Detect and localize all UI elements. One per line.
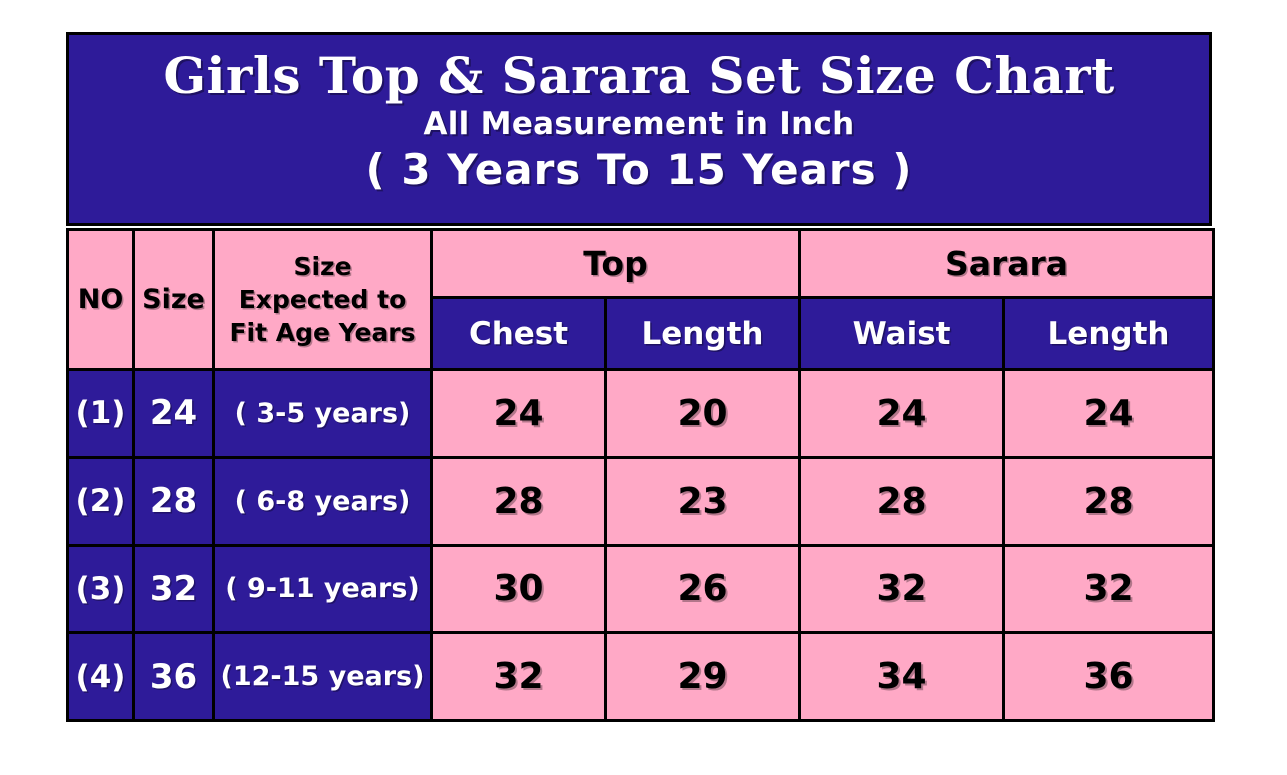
cell-age: ( 3-5 years): [214, 370, 432, 458]
table-body: (1) 24 ( 3-5 years) 24 20 24 24 (2) 28 (…: [68, 370, 1214, 721]
header-sarara-length: Length: [1004, 298, 1214, 370]
header-top-chest: Chest: [432, 298, 606, 370]
cell-age: (12-15 years): [214, 633, 432, 721]
header-size: Size: [134, 230, 214, 370]
cell-top-chest: 30: [432, 545, 606, 633]
cell-no: (1): [68, 370, 134, 458]
header-age-line-3: Fit Age Years: [215, 316, 430, 349]
table-head: NO Size Size Expected to Fit Age Years T…: [68, 230, 1214, 370]
cell-top-length: 26: [606, 545, 800, 633]
header-no: NO: [68, 230, 134, 370]
cell-sarara-length: 32: [1004, 545, 1214, 633]
header-sarara-waist: Waist: [800, 298, 1004, 370]
table-row: (1) 24 ( 3-5 years) 24 20 24 24: [68, 370, 1214, 458]
cell-age: ( 6-8 years): [214, 457, 432, 545]
cell-no: (3): [68, 545, 134, 633]
cell-age: ( 9-11 years): [214, 545, 432, 633]
cell-top-length: 20: [606, 370, 800, 458]
cell-top-chest: 28: [432, 457, 606, 545]
table-row: (3) 32 ( 9-11 years) 30 26 32 32: [68, 545, 1214, 633]
age-range-text: ( 3 Years To 15 Years ): [366, 145, 913, 195]
table-row: (4) 36 (12-15 years) 32 29 34 36: [68, 633, 1214, 721]
cell-size: 36: [134, 633, 214, 721]
cell-sarara-waist: 28: [800, 457, 1004, 545]
cell-sarara-length: 28: [1004, 457, 1214, 545]
header-group-top: Top: [432, 230, 800, 298]
header-age: Size Expected to Fit Age Years: [214, 230, 432, 370]
cell-no: (4): [68, 633, 134, 721]
header-row-groups: NO Size Size Expected to Fit Age Years T…: [68, 230, 1214, 298]
cell-sarara-length: 36: [1004, 633, 1214, 721]
cell-top-length: 23: [606, 457, 800, 545]
cell-size: 32: [134, 545, 214, 633]
cell-sarara-waist: 24: [800, 370, 1004, 458]
cell-sarara-waist: 34: [800, 633, 1004, 721]
cell-no: (2): [68, 457, 134, 545]
cell-sarara-length: 24: [1004, 370, 1214, 458]
header-age-line-1: Size: [215, 250, 430, 283]
cell-top-chest: 24: [432, 370, 606, 458]
cell-top-length: 29: [606, 633, 800, 721]
cell-top-chest: 32: [432, 633, 606, 721]
header-group-sarara: Sarara: [800, 230, 1214, 298]
title-banner: Girls Top & Sarara Set Size Chart All Me…: [66, 32, 1212, 226]
size-chart-image: Girls Top & Sarara Set Size Chart All Me…: [0, 0, 1287, 775]
header-age-line-2: Expected to: [215, 283, 430, 316]
cell-size: 24: [134, 370, 214, 458]
header-top-length: Length: [606, 298, 800, 370]
cell-size: 28: [134, 457, 214, 545]
size-chart-table: NO Size Size Expected to Fit Age Years T…: [66, 228, 1215, 722]
page-title: Girls Top & Sarara Set Size Chart: [163, 47, 1114, 105]
table-row: (2) 28 ( 6-8 years) 28 23 28 28: [68, 457, 1214, 545]
page-subtitle: All Measurement in Inch: [423, 105, 854, 143]
cell-sarara-waist: 32: [800, 545, 1004, 633]
